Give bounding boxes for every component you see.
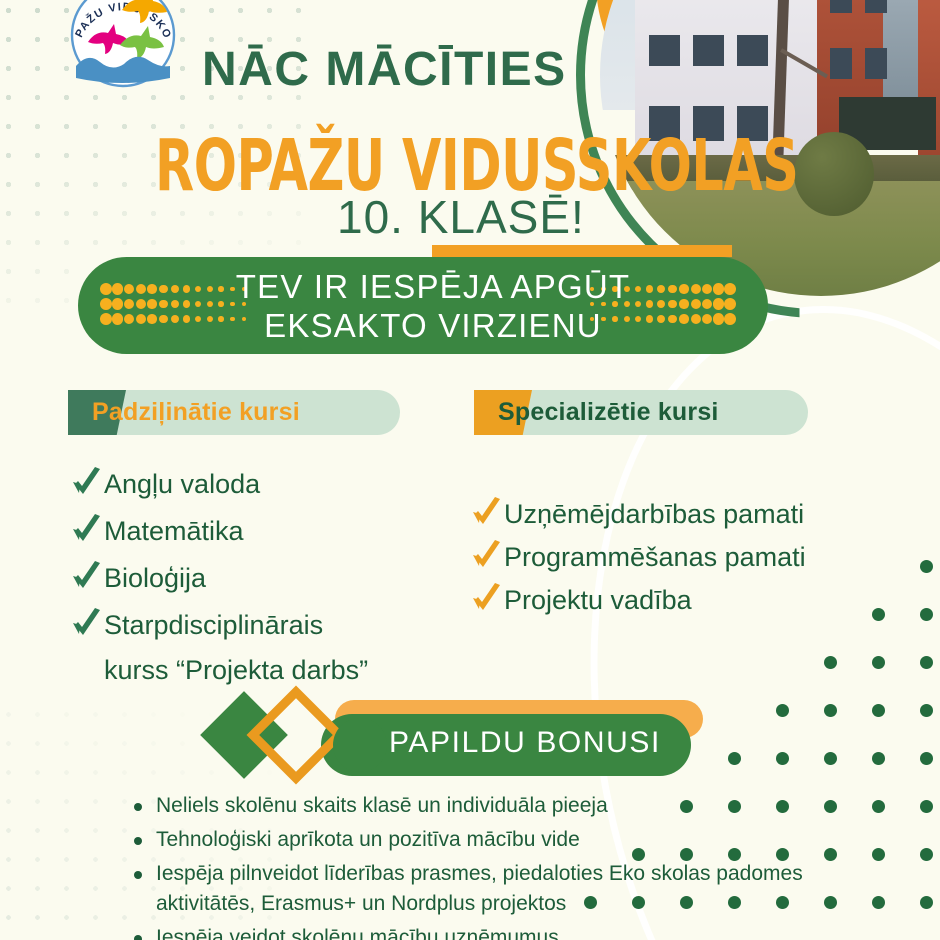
- list-item: Uzņēmējdarbības pamati: [470, 494, 900, 535]
- list-item-label: Programmēšanas pamati: [504, 537, 806, 578]
- badge-padzilinatie-kursi: Padziļinātie kursi: [68, 390, 400, 435]
- bullet-dot-icon: [134, 871, 142, 879]
- course-list-padzilinatie: Angļu valodaMatemātikaBioloģijaStarpdisc…: [70, 462, 450, 695]
- badge-label: Specializētie kursi: [498, 398, 719, 427]
- list-item-label: Uzņēmējdarbības pamati: [504, 494, 804, 535]
- list-item: Matemātika: [70, 509, 450, 554]
- bonus-list-item-label: Neliels skolēnu skaits klasē un individu…: [156, 791, 608, 821]
- bullet-dot-icon: [134, 803, 142, 811]
- list-item-label: Bioloģija: [104, 556, 206, 601]
- list-item-label: Matemātika: [104, 509, 244, 554]
- bonus-list-item: Iespēja pilnveidot līderības prasmes, pi…: [134, 859, 904, 919]
- bonus-list-item-label: Iespēja veidot skolēnu mācību uzņēmumus: [156, 923, 559, 940]
- check-icon: [70, 606, 104, 640]
- bullet-dot-icon: [134, 837, 142, 845]
- green-dot-cluster-decoration: [810, 560, 940, 940]
- banner-line-1: TEV IR IESPĒJA APGŪT: [98, 267, 768, 306]
- poster-root: ROPAŽU VIDUSSKOLA NĀC MĀCĪTIES ROPAŽU VI…: [0, 0, 940, 940]
- list-item-label: Starpdisciplinārais kurss “Projekta darb…: [104, 603, 368, 693]
- check-icon: [470, 581, 504, 615]
- subtitle-banner: TEV IR IESPĒJA APGŪT EKSAKTO VIRZIENU: [78, 257, 768, 354]
- check-icon: [70, 512, 104, 546]
- list-item-label: Angļu valoda: [104, 462, 260, 507]
- check-icon: [470, 538, 504, 572]
- check-icon: [70, 465, 104, 499]
- orange-diamond-outline-icon: [247, 686, 346, 785]
- bonus-title: PAPILDU BONUSI: [365, 726, 685, 760]
- bonus-list: Neliels skolēnu skaits klasē un individu…: [134, 791, 904, 940]
- headline-line-3: 10. KLASĒ!: [337, 190, 585, 244]
- headline-line-1: NĀC MĀCĪTIES: [202, 42, 567, 97]
- bonus-list-item-label: Iespēja pilnveidot līderības prasmes, pi…: [156, 859, 904, 919]
- ropazu-vidusskola-logo: ROPAŽU VIDUSSKOLA: [58, 0, 188, 100]
- bonus-list-item: Tehnoloģiski aprīkota un pozitīva mācību…: [134, 825, 904, 855]
- bonus-ribbon: PAPILDU BONUSI: [205, 690, 705, 785]
- check-icon: [70, 559, 104, 593]
- badge-specializetie-kursi: Specializētie kursi: [474, 390, 808, 435]
- bonus-list-item-label: Tehnoloģiski aprīkota un pozitīva mācību…: [156, 825, 580, 855]
- badge-label: Padziļinātie kursi: [92, 398, 300, 427]
- list-item-label: Projektu vadība: [504, 580, 692, 621]
- list-item: Starpdisciplinārais kurss “Projekta darb…: [70, 603, 450, 693]
- bonus-list-item: Iespēja veidot skolēnu mācību uzņēmumus: [134, 923, 904, 940]
- check-icon: [470, 495, 504, 529]
- bullet-dot-icon: [134, 935, 142, 940]
- banner-line-2: EKSAKTO VIRZIENU: [98, 306, 768, 345]
- list-item: Bioloģija: [70, 556, 450, 601]
- list-item: Angļu valoda: [70, 462, 450, 507]
- orange-underline-bar: [432, 245, 732, 257]
